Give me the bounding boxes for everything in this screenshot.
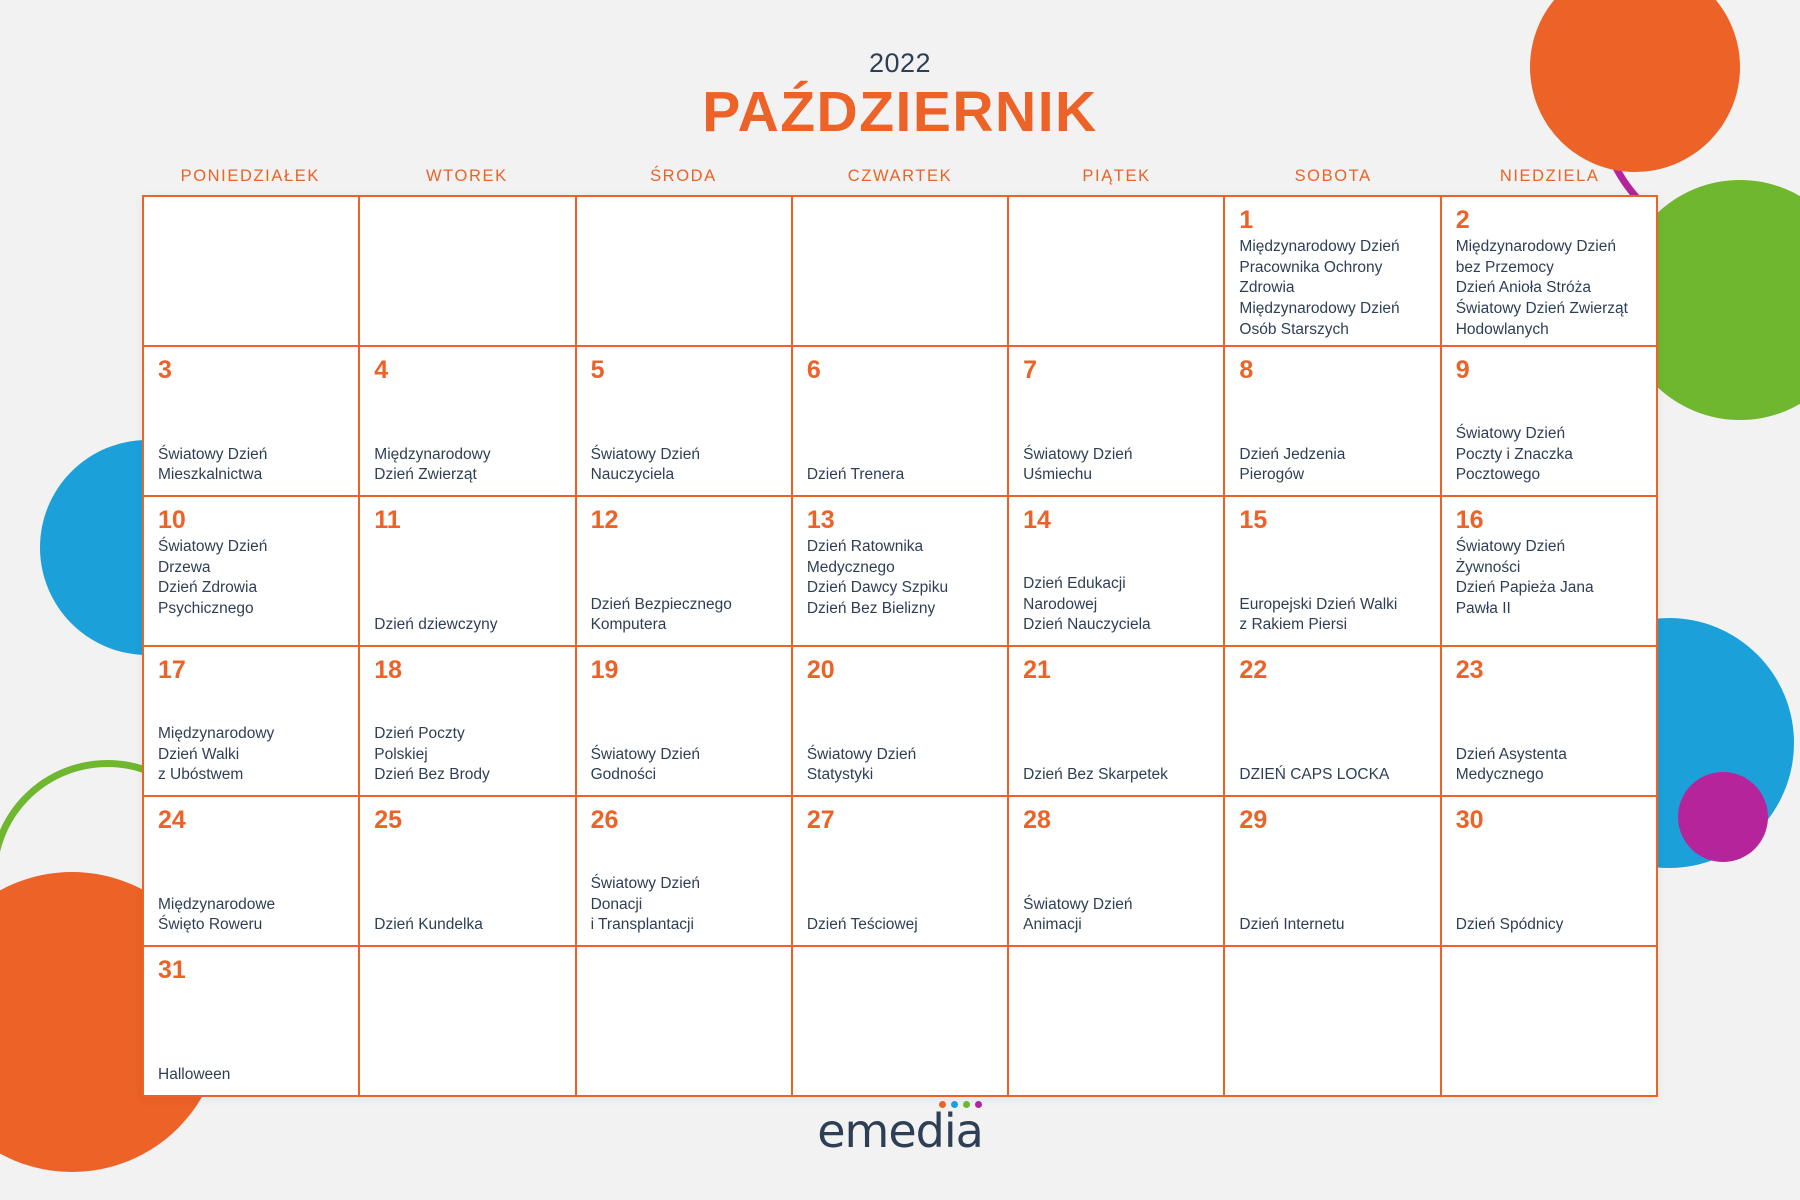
day-number: 31	[158, 957, 346, 983]
day-events: Dzień RatownikaMedycznegoDzień Dawcy Szp…	[807, 537, 995, 619]
day-events: Dzień Spódnicy	[1456, 915, 1644, 936]
day-number: 28	[1023, 807, 1211, 833]
event-line: Halloween	[158, 1065, 346, 1086]
day-number: 17	[158, 657, 346, 683]
event-line: Dzień dziewczyny	[374, 615, 562, 636]
day-events: Światowy DzieńAnimacji	[1023, 895, 1211, 936]
day-cell-2[interactable]: 2Międzynarodowy Dzieńbez PrzemocyDzień A…	[1442, 197, 1658, 347]
day-cell-14[interactable]: 14Dzień EdukacjiNarodowejDzień Nauczycie…	[1009, 497, 1225, 647]
event-line: Światowy Dzień	[1456, 537, 1644, 558]
event-line: Dzień Edukacji	[1023, 574, 1211, 595]
day-number: 30	[1456, 807, 1644, 833]
event-line: Międzynarodowy Dzień	[1239, 237, 1427, 258]
calendar-header: 2022 PAŹDZIERNIK	[0, 0, 1800, 143]
event-line: DZIEŃ CAPS LOCKA	[1239, 765, 1427, 786]
event-line: Zdrowia	[1239, 278, 1427, 299]
day-number: 6	[807, 357, 995, 383]
day-events: Światowy DzieńNauczyciela	[591, 445, 779, 486]
day-cell-25[interactable]: 25Dzień Kundelka	[360, 797, 576, 947]
day-cell-empty	[360, 197, 576, 347]
day-events: Dzień BezpiecznegoKomputera	[591, 595, 779, 636]
day-events: Światowy DzieńDrzewaDzień ZdrowiaPsychic…	[158, 537, 346, 619]
event-line: Dzień Teściowej	[807, 915, 995, 936]
event-line: Pocztowego	[1456, 465, 1644, 486]
event-line: Dzień Kundelka	[374, 915, 562, 936]
day-number: 1	[1239, 207, 1427, 233]
day-number: 11	[374, 507, 562, 533]
day-cell-15[interactable]: 15Europejski Dzień Walkiz Rakiem Piersi	[1225, 497, 1441, 647]
event-line: Komputera	[591, 615, 779, 636]
day-cell-6[interactable]: 6Dzień Trenera	[793, 347, 1009, 497]
day-cell-empty	[1009, 947, 1225, 1097]
logo-dot-3	[963, 1101, 970, 1108]
day-number: 7	[1023, 357, 1211, 383]
day-events: Międzynarodowy DzieńPracownika OchronyZd…	[1239, 237, 1427, 340]
event-line: Drzewa	[158, 558, 346, 579]
event-line: Światowy Dzień	[1023, 445, 1211, 466]
day-cell-empty	[577, 197, 793, 347]
event-line: Dzień Dawcy Szpiku	[807, 578, 995, 599]
event-line: Uśmiechu	[1023, 465, 1211, 486]
event-line: Dzień Bez Brody	[374, 765, 562, 786]
day-cell-17[interactable]: 17MiędzynarodowyDzień Walkiz Ubóstwem	[144, 647, 360, 797]
event-line: z Rakiem Piersi	[1239, 615, 1427, 636]
event-line: Światowy Dzień	[158, 445, 346, 466]
event-line: Dzień Poczty	[374, 724, 562, 745]
event-line: Hodowlanych	[1456, 320, 1644, 341]
event-line: Dzień Nauczyciela	[1023, 615, 1211, 636]
event-line: Światowy Dzień	[591, 445, 779, 466]
day-number: 15	[1239, 507, 1427, 533]
emedia-logo-text: emedia	[817, 1104, 983, 1158]
day-cell-empty	[793, 947, 1009, 1097]
event-line: Dzień Zdrowia	[158, 578, 346, 599]
weekday-header-1: PONIEDZIAŁEK	[142, 167, 359, 195]
event-line: Statystyki	[807, 765, 995, 786]
event-line: Dzień Bezpiecznego	[591, 595, 779, 616]
event-line: Dzień Walki	[158, 745, 346, 766]
event-line: Polskiej	[374, 745, 562, 766]
day-number: 5	[591, 357, 779, 383]
day-cell-30[interactable]: 30Dzień Spódnicy	[1442, 797, 1658, 947]
day-number: 3	[158, 357, 346, 383]
event-line: Pawła II	[1456, 599, 1644, 620]
event-line: Dzień Internetu	[1239, 915, 1427, 936]
event-line: Dzień Ratownika	[807, 537, 995, 558]
month-title: PAŹDZIERNIK	[0, 83, 1800, 143]
event-line: Dzień Asystenta	[1456, 745, 1644, 766]
day-cell-3[interactable]: 3Światowy DzieńMieszkalnictwa	[144, 347, 360, 497]
day-cell-26[interactable]: 26Światowy DzieńDonacjii Transplantacji	[577, 797, 793, 947]
day-number: 12	[591, 507, 779, 533]
event-line: Dzień Zwierząt	[374, 465, 562, 486]
event-line: Medycznego	[1456, 765, 1644, 786]
day-number: 2	[1456, 207, 1644, 233]
event-line: Psychicznego	[158, 599, 346, 620]
logo-dot-4	[975, 1101, 982, 1108]
event-line: Międzynarodowe	[158, 895, 346, 916]
day-cell-22[interactable]: 22DZIEŃ CAPS LOCKA	[1225, 647, 1441, 797]
event-line: Światowy Dzień	[807, 745, 995, 766]
day-number: 8	[1239, 357, 1427, 383]
event-line: Światowy Dzień	[591, 874, 779, 895]
footer-logo: emedia	[0, 1104, 1800, 1158]
day-cell-empty	[577, 947, 793, 1097]
day-events: MiędzynarodowyDzień Zwierząt	[374, 445, 562, 486]
day-number: 22	[1239, 657, 1427, 683]
event-line: Dzień Spódnicy	[1456, 915, 1644, 936]
day-cell-empty	[1009, 197, 1225, 347]
day-cell-18[interactable]: 18Dzień PocztyPolskiejDzień Bez Brody	[360, 647, 576, 797]
event-line: Dzień Jedzenia	[1239, 445, 1427, 466]
day-events: Międzynarodowy Dzieńbez PrzemocyDzień An…	[1456, 237, 1644, 340]
event-line: z Ubóstwem	[158, 765, 346, 786]
day-number: 25	[374, 807, 562, 833]
calendar-grid: 1Międzynarodowy DzieńPracownika OchronyZ…	[142, 195, 1658, 1097]
day-events: Dzień Teściowej	[807, 915, 995, 936]
day-cell-empty	[144, 197, 360, 347]
day-cell-1[interactable]: 1Międzynarodowy DzieńPracownika OchronyZ…	[1225, 197, 1441, 347]
day-number: 10	[158, 507, 346, 533]
event-line: Żywności	[1456, 558, 1644, 579]
day-cell-29[interactable]: 29Dzień Internetu	[1225, 797, 1441, 947]
day-events: Dzień JedzeniaPierogów	[1239, 445, 1427, 486]
event-line: Międzynarodowy	[158, 724, 346, 745]
day-cell-11[interactable]: 11Dzień dziewczyny	[360, 497, 576, 647]
weekday-header-4: CZWARTEK	[792, 167, 1009, 195]
day-cell-24[interactable]: 24MiędzynarodoweŚwięto Roweru	[144, 797, 360, 947]
day-events: Europejski Dzień Walkiz Rakiem Piersi	[1239, 595, 1427, 636]
event-line: Europejski Dzień Walki	[1239, 595, 1427, 616]
day-events: Światowy DzieńDonacjii Transplantacji	[591, 874, 779, 936]
day-events: Światowy DzieńMieszkalnictwa	[158, 445, 346, 486]
event-line: Mieszkalnictwa	[158, 465, 346, 486]
day-events: Dzień Kundelka	[374, 915, 562, 936]
event-line: Święto Roweru	[158, 915, 346, 936]
event-line: Światowy Dzień	[158, 537, 346, 558]
day-events: Światowy DzieńŻywnościDzień Papieża Jana…	[1456, 537, 1644, 619]
event-line: Dzień Anioła Stróża	[1456, 278, 1644, 299]
event-line: Dzień Papieża Jana	[1456, 578, 1644, 599]
day-cell-5[interactable]: 5Światowy DzieńNauczyciela	[577, 347, 793, 497]
day-events: DZIEŃ CAPS LOCKA	[1239, 765, 1427, 786]
event-line: Światowy Dzień	[591, 745, 779, 766]
day-events: Dzień AsystentaMedycznego	[1456, 745, 1644, 786]
day-number: 19	[591, 657, 779, 683]
event-line: i Transplantacji	[591, 915, 779, 936]
day-cell-9[interactable]: 9Światowy DzieńPoczty i ZnaczkaPocztoweg…	[1442, 347, 1658, 497]
day-number: 29	[1239, 807, 1427, 833]
day-cell-8[interactable]: 8Dzień JedzeniaPierogów	[1225, 347, 1441, 497]
day-cell-13[interactable]: 13Dzień RatownikaMedycznegoDzień Dawcy S…	[793, 497, 1009, 647]
day-cell-12[interactable]: 12Dzień BezpiecznegoKomputera	[577, 497, 793, 647]
day-number: 14	[1023, 507, 1211, 533]
event-line: Narodowej	[1023, 595, 1211, 616]
event-line: Dzień Bez Bielizny	[807, 599, 995, 620]
day-number: 21	[1023, 657, 1211, 683]
day-cell-23[interactable]: 23Dzień AsystentaMedycznego	[1442, 647, 1658, 797]
day-events: Dzień dziewczyny	[374, 615, 562, 636]
day-events: Dzień Trenera	[807, 465, 995, 486]
day-number: 27	[807, 807, 995, 833]
day-number: 18	[374, 657, 562, 683]
day-number: 26	[591, 807, 779, 833]
calendar-page: 2022 PAŹDZIERNIK PONIEDZIAŁEKWTOREKŚRODA…	[0, 0, 1800, 1200]
day-cell-empty	[360, 947, 576, 1097]
event-line: Międzynarodowy Dzień	[1239, 299, 1427, 320]
event-line: Animacji	[1023, 915, 1211, 936]
day-cell-16[interactable]: 16Światowy DzieńŻywnościDzień Papieża Ja…	[1442, 497, 1658, 647]
weekday-header-2: WTOREK	[359, 167, 576, 195]
day-cell-28[interactable]: 28Światowy DzieńAnimacji	[1009, 797, 1225, 947]
day-number: 9	[1456, 357, 1644, 383]
day-cell-4[interactable]: 4MiędzynarodowyDzień Zwierząt	[360, 347, 576, 497]
day-events: MiędzynarodoweŚwięto Roweru	[158, 895, 346, 936]
day-cell-27[interactable]: 27Dzień Teściowej	[793, 797, 1009, 947]
day-number: 13	[807, 507, 995, 533]
day-events: MiędzynarodowyDzień Walkiz Ubóstwem	[158, 724, 346, 786]
day-cell-empty	[793, 197, 1009, 347]
event-line: Godności	[591, 765, 779, 786]
day-events: Światowy DzieńUśmiechu	[1023, 445, 1211, 486]
day-number: 23	[1456, 657, 1644, 683]
year-label: 2022	[0, 48, 1800, 79]
event-line: bez Przemocy	[1456, 258, 1644, 279]
day-cell-20[interactable]: 20Światowy DzieńStatystyki	[793, 647, 1009, 797]
day-events: Światowy DzieńGodności	[591, 745, 779, 786]
event-line: Poczty i Znaczka	[1456, 445, 1644, 466]
day-events: Dzień Bez Skarpetek	[1023, 765, 1211, 786]
event-line: Osób Starszych	[1239, 320, 1427, 341]
day-events: Halloween	[158, 1065, 346, 1086]
event-line: Światowy Dzień Zwierząt	[1456, 299, 1644, 320]
day-number: 4	[374, 357, 562, 383]
event-line: Pierogów	[1239, 465, 1427, 486]
weekday-header-row: PONIEDZIAŁEKWTOREKŚRODACZWARTEKPIĄTEKSOB…	[142, 167, 1658, 195]
event-line: Nauczyciela	[591, 465, 779, 486]
day-events: Dzień EdukacjiNarodowejDzień Nauczyciela	[1023, 574, 1211, 636]
day-cell-31[interactable]: 31Halloween	[144, 947, 360, 1097]
event-line: Donacji	[591, 895, 779, 916]
day-cell-10[interactable]: 10Światowy DzieńDrzewaDzień ZdrowiaPsych…	[144, 497, 360, 647]
day-cell-19[interactable]: 19Światowy DzieńGodności	[577, 647, 793, 797]
event-line: Pracownika Ochrony	[1239, 258, 1427, 279]
event-line: Światowy Dzień	[1023, 895, 1211, 916]
day-cell-empty	[1225, 947, 1441, 1097]
day-cell-7[interactable]: 7Światowy DzieńUśmiechu	[1009, 347, 1225, 497]
weekday-header-5: PIĄTEK	[1008, 167, 1225, 195]
logo-dot-1	[939, 1101, 946, 1108]
day-events: Światowy DzieńPoczty i ZnaczkaPocztowego	[1456, 424, 1644, 486]
day-events: Światowy DzieńStatystyki	[807, 745, 995, 786]
event-line: Światowy Dzień	[1456, 424, 1644, 445]
day-number: 16	[1456, 507, 1644, 533]
event-line: Medycznego	[807, 558, 995, 579]
day-events: Dzień PocztyPolskiejDzień Bez Brody	[374, 724, 562, 786]
logo-dot-2	[951, 1101, 958, 1108]
event-line: Międzynarodowy Dzień	[1456, 237, 1644, 258]
day-cell-empty	[1442, 947, 1658, 1097]
day-number: 24	[158, 807, 346, 833]
day-events: Dzień Internetu	[1239, 915, 1427, 936]
weekday-header-3: ŚRODA	[575, 167, 792, 195]
day-cell-21[interactable]: 21Dzień Bez Skarpetek	[1009, 647, 1225, 797]
weekday-header-6: SOBOTA	[1225, 167, 1442, 195]
event-line: Międzynarodowy	[374, 445, 562, 466]
logo-dots-icon	[939, 1101, 982, 1108]
event-line: Dzień Bez Skarpetek	[1023, 765, 1211, 786]
weekday-header-7: NIEDZIELA	[1441, 167, 1658, 195]
event-line: Dzień Trenera	[807, 465, 995, 486]
day-number: 20	[807, 657, 995, 683]
